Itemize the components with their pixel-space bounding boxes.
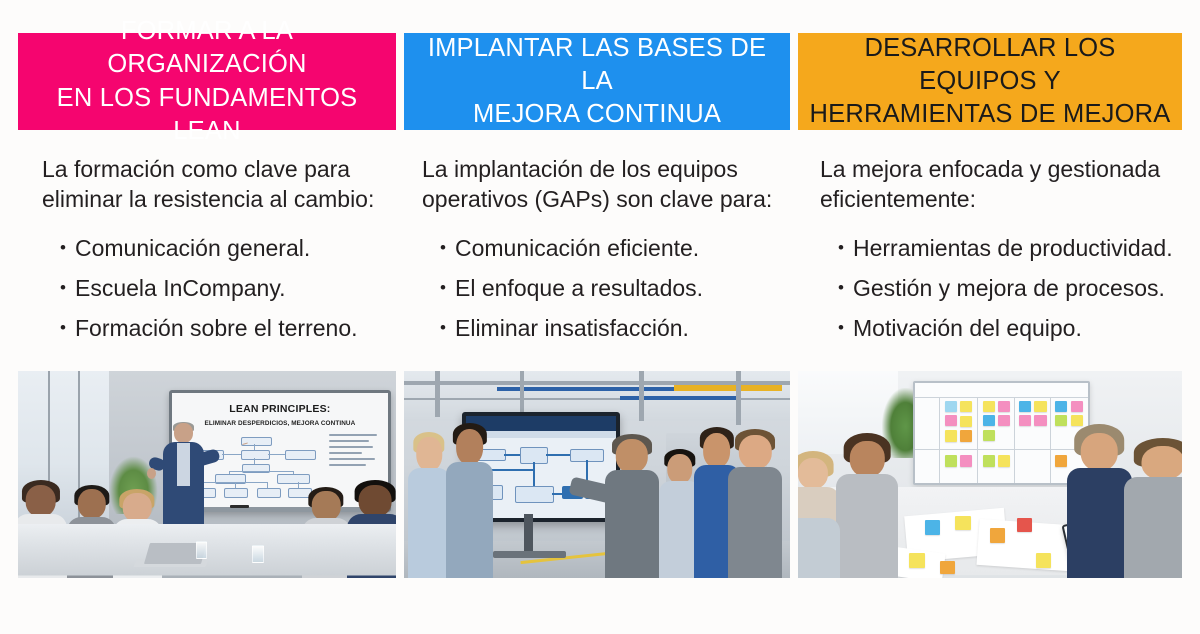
worker-figure	[408, 437, 450, 578]
whiteboard-notes	[329, 434, 379, 478]
worker-figure	[446, 429, 492, 578]
column-header-title: DESARROLLAR LOS EQUIPOS Y HERRAMIENTAS D…	[804, 32, 1176, 131]
participant-figure	[1067, 433, 1132, 578]
column-bullet-list: Comunicación eficiente. El enfoque a res…	[422, 237, 784, 340]
participant-figure	[836, 441, 897, 578]
column-bullet-list: Herramientas de productividad. Gestión y…	[820, 237, 1176, 340]
whiteboard-title: LEAN PRINCIPLES:	[172, 403, 387, 415]
column-photo-formacion: LEAN PRINCIPLES: ELIMINAR DESPERDICIOS, …	[18, 371, 396, 578]
list-item: Escuela InCompany.	[60, 277, 390, 300]
column-lead-text: La formación como clave para eliminar la…	[42, 154, 390, 215]
column-formacion: FORMAR A LA ORGANIZACIÓN EN LOS FUNDAMEN…	[18, 33, 396, 593]
list-item: Gestión y mejora de procesos.	[838, 277, 1176, 300]
column-lead-text: La mejora enfocada y gestionada eficient…	[820, 154, 1176, 215]
participant-figure	[798, 499, 840, 578]
list-item: El enfoque a resultados.	[440, 277, 784, 300]
list-item: Comunicación eficiente.	[440, 237, 784, 260]
list-item: Motivación del equipo.	[838, 317, 1176, 340]
participant-figure	[1124, 446, 1182, 578]
column-photo-equipos	[798, 371, 1182, 578]
worker-figure	[605, 439, 659, 578]
list-item: Herramientas de productividad.	[838, 237, 1176, 260]
column-body-equipos: La mejora enfocada y gestionada eficient…	[798, 154, 1182, 340]
kanban-board	[913, 381, 1090, 484]
whiteboard-flowchart	[189, 437, 318, 497]
list-item: Comunicación general.	[60, 237, 390, 260]
list-item: Eliminar insatisfacción.	[440, 317, 784, 340]
infographic-board: FORMAR A LA ORGANIZACIÓN EN LOS FUNDAMEN…	[0, 0, 1200, 634]
column-header-title: FORMAR A LA ORGANIZACIÓN EN LOS FUNDAMEN…	[24, 15, 390, 148]
column-lead-text: La implantación de los equipos operativo…	[422, 154, 784, 215]
column-body-formacion: La formación como clave para eliminar la…	[18, 154, 396, 340]
column-bases: IMPLANTAR LAS BASES DE LA MEJORA CONTINU…	[404, 33, 790, 593]
column-header-bases: IMPLANTAR LAS BASES DE LA MEJORA CONTINU…	[404, 33, 790, 130]
column-body-bases: La implantación de los equipos operativo…	[404, 154, 790, 340]
column-header-equipos: DESARROLLAR LOS EQUIPOS Y HERRAMIENTAS D…	[798, 33, 1182, 130]
column-header-formacion: FORMAR A LA ORGANIZACIÓN EN LOS FUNDAMEN…	[18, 33, 396, 130]
column-photo-bases	[404, 371, 790, 578]
column-bullet-list: Comunicación general. Escuela InCompany.…	[42, 237, 390, 340]
presenter-figure	[160, 423, 207, 531]
worker-figure	[728, 435, 782, 578]
column-equipos: DESARROLLAR LOS EQUIPOS Y HERRAMIENTAS D…	[798, 33, 1182, 593]
column-header-title: IMPLANTAR LAS BASES DE LA MEJORA CONTINU…	[410, 32, 784, 131]
list-item: Formación sobre el terreno.	[60, 317, 390, 340]
